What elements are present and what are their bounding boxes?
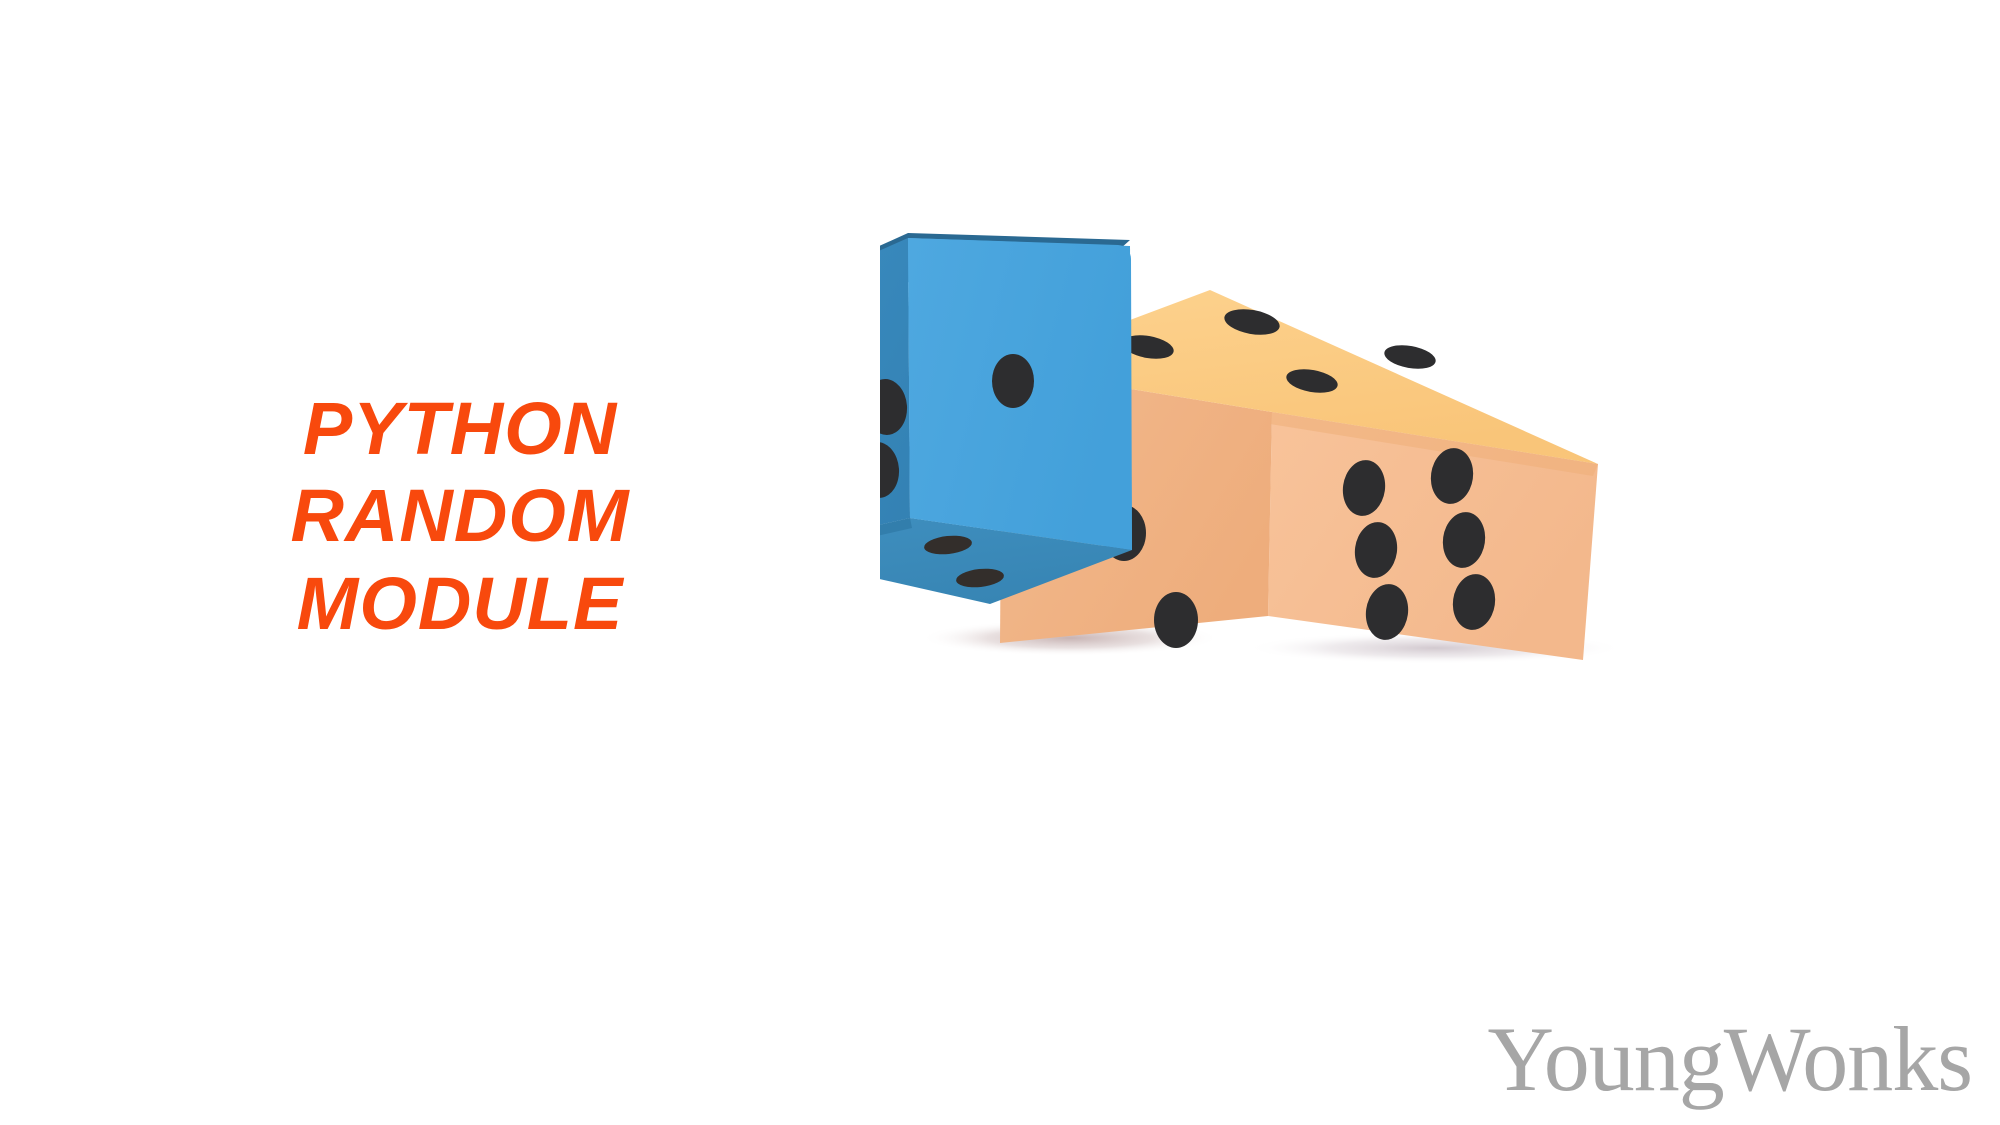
title-line-1: PYTHON [160, 385, 760, 472]
page-title: PYTHON RANDOM MODULE [160, 385, 760, 647]
slide-canvas: PYTHON RANDOM MODULE [0, 0, 2000, 1125]
dice-illustration [880, 230, 1880, 910]
blue-die [880, 233, 1132, 604]
brand-logo: YoungWonks [1488, 1013, 1973, 1105]
title-line-2: RANDOM [160, 472, 760, 559]
brand-logo-text: YoungWonks [1488, 1008, 1973, 1110]
title-line-3: MODULE [160, 560, 760, 647]
blue-die-right-pips [992, 354, 1034, 408]
